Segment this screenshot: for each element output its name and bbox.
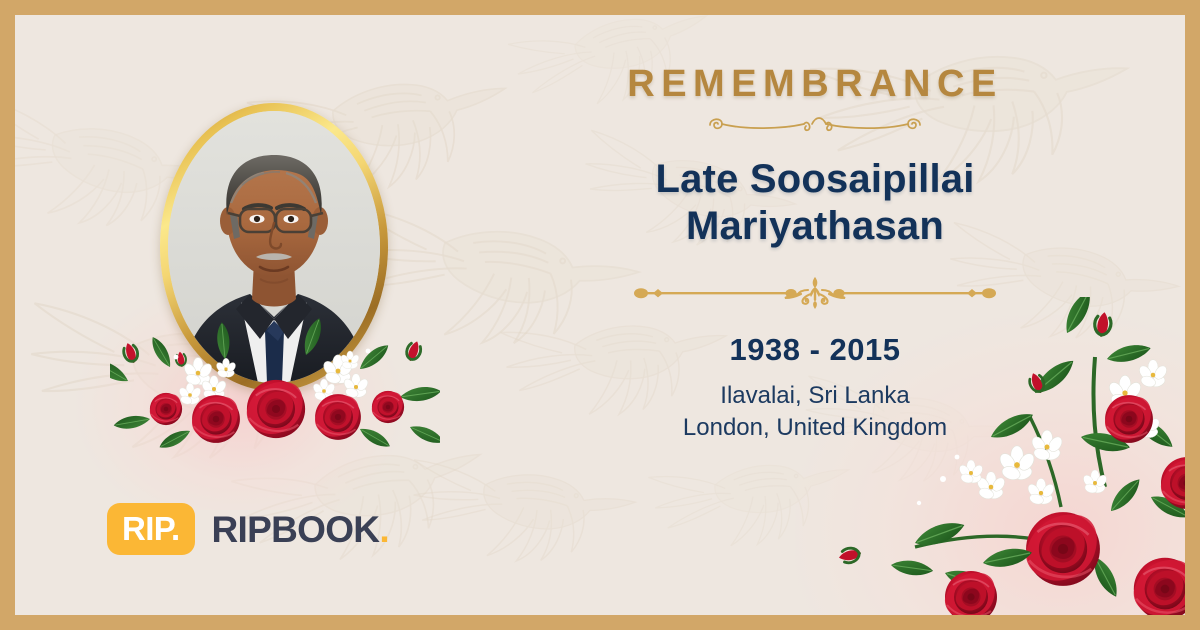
residence-location: London, United Kingdom [495,412,1135,444]
deceased-name: Late Soosaipillai Mariyathasan [495,156,1135,250]
deceased-portrait-photo [168,111,380,383]
locations: Ilavalai, Sri Lanka London, United Kingd… [495,380,1135,444]
logo-wordmark-text: RIPBOOK [212,509,380,550]
portrait-frame [160,103,388,391]
deceased-name-line2: Mariyathasan [495,203,1135,250]
origin-location: Ilavalai, Sri Lanka [495,380,1135,412]
ripbook-logo[interactable]: RIP. RIPBOOK. [107,503,389,555]
life-dates: 1938 - 2015 [495,332,1135,368]
deceased-name-line1: Late Soosaipillai [495,156,1135,203]
memorial-text-column: REMEMBRANCE Late Soosaipillai Mariyathas… [495,15,1135,615]
logo-wordmark: RIPBOOK. [212,511,389,548]
card-inner-panel: REMEMBRANCE Late Soosaipillai Mariyathas… [15,15,1185,615]
fleur-de-lis-divider-icon [625,276,1005,310]
scroll-flourish-icon [700,112,930,138]
logo-badge-text: RIP. [122,512,180,545]
logo-wordmark-dot: . [379,509,389,550]
page-title: REMEMBRANCE [495,15,1135,106]
logo-badge: RIP. [107,503,195,555]
remembrance-card: REMEMBRANCE Late Soosaipillai Mariyathas… [0,0,1200,630]
